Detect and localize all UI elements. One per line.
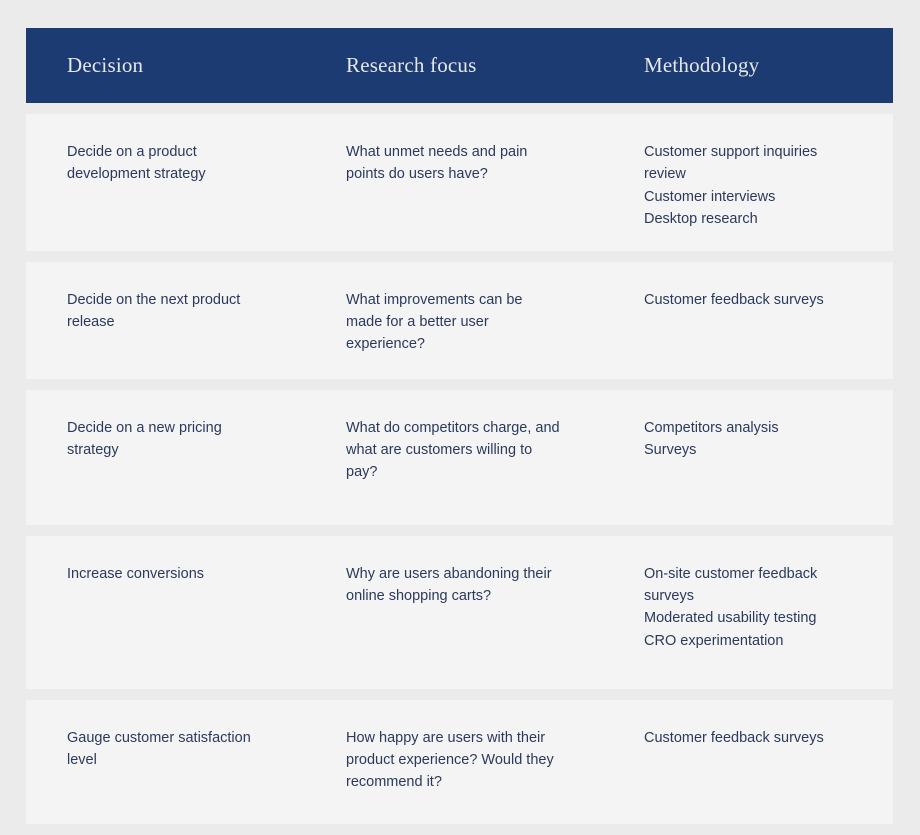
column-header-methodology: Methodology [614,53,893,78]
cell-methodology: On-site customer feedback surveys Modera… [614,536,893,689]
cell-research-focus: How happy are users with their product e… [315,700,614,824]
cell-decision: Decide on a product development strategy [26,114,315,251]
methodology-item: Customer support inquiries review [644,141,849,186]
methodology-list: Customer support inquiries review Custom… [644,141,893,231]
cell-methodology: Competitors analysis Surveys [614,390,893,525]
table-row: Decide on a new pricing strategy What do… [26,390,893,525]
cell-research-focus: What unmet needs and pain points do user… [315,114,614,251]
table-row: Increase conversions Why are users aband… [26,536,893,689]
table-header-row: Decision Research focus Methodology [26,28,893,103]
research-decision-table: Decision Research focus Methodology Deci… [26,28,893,824]
methodology-item: Customer interviews [644,186,849,208]
cell-methodology: Customer feedback surveys [614,262,893,379]
methodology-item: CRO experimentation [644,630,849,652]
methodology-list: On-site customer feedback surveys Modera… [644,563,893,653]
cell-research-focus: Why are users abandoning their online sh… [315,536,614,689]
methodology-item: Surveys [644,439,849,461]
research-focus-text: How happy are users with their product e… [346,727,561,794]
decision-text: Decide on the next product release [67,289,267,334]
methodology-item: On-site customer feedback surveys [644,563,849,608]
research-focus-text: What unmet needs and pain points do user… [346,141,561,186]
methodology-item: Competitors analysis [644,417,849,439]
table-body: Decide on a product development strategy… [26,103,893,824]
methodology-item: Moderated usability testing [644,607,849,629]
cell-research-focus: What do competitors charge, and what are… [315,390,614,525]
cell-decision: Gauge customer satisfaction level [26,700,315,824]
decision-text: Decide on a new pricing strategy [67,417,267,462]
methodology-item: Customer feedback surveys [644,289,849,311]
decision-text: Gauge customer satisfaction level [67,727,267,772]
column-header-decision: Decision [26,53,315,78]
cell-decision: Decide on a new pricing strategy [26,390,315,525]
table-row: Decide on the next product release What … [26,262,893,379]
methodology-item: Desktop research [644,208,849,230]
cell-methodology: Customer support inquiries review Custom… [614,114,893,251]
column-header-research-focus: Research focus [315,53,614,78]
decision-text: Increase conversions [67,563,267,585]
methodology-item: Customer feedback surveys [644,727,849,749]
methodology-list: Customer feedback surveys [644,727,893,749]
research-focus-text: What improvements can be made for a bett… [346,289,561,356]
decision-text: Decide on a product development strategy [67,141,267,186]
cell-methodology: Customer feedback surveys [614,700,893,824]
table-row: Decide on a product development strategy… [26,114,893,251]
table-row: Gauge customer satisfaction level How ha… [26,700,893,824]
methodology-list: Customer feedback surveys [644,289,893,311]
cell-research-focus: What improvements can be made for a bett… [315,262,614,379]
cell-decision: Decide on the next product release [26,262,315,379]
research-focus-text: What do competitors charge, and what are… [346,417,561,484]
cell-decision: Increase conversions [26,536,315,689]
methodology-list: Competitors analysis Surveys [644,417,893,462]
research-focus-text: Why are users abandoning their online sh… [346,563,561,608]
